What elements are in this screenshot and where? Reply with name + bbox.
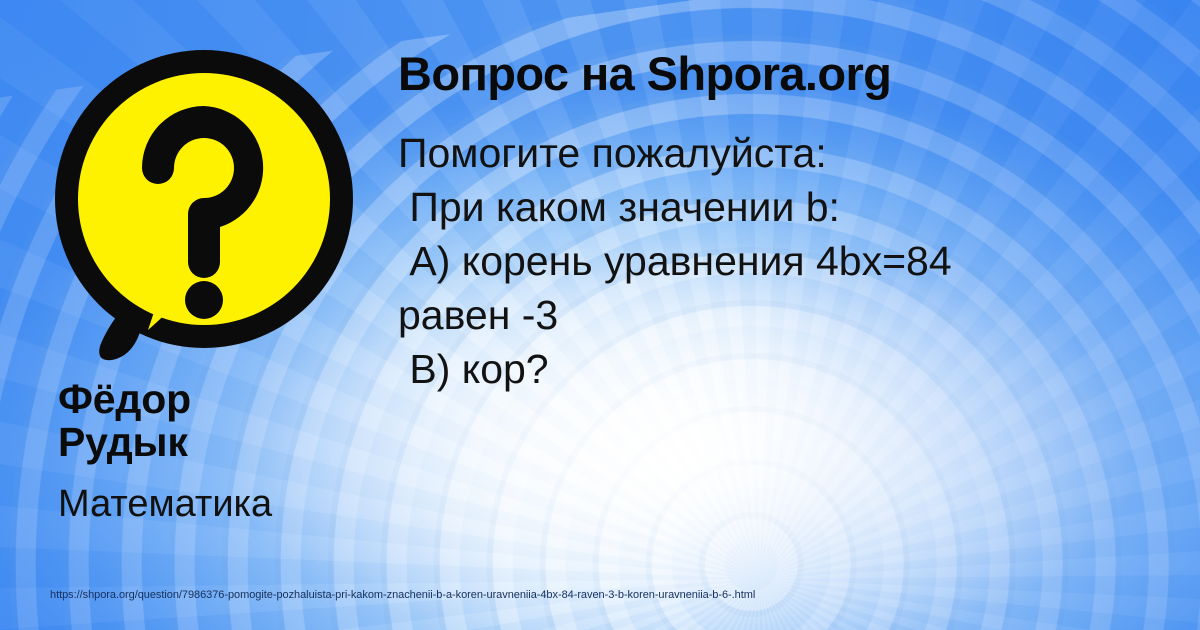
question-panel: Вопрос на Shpora.org Помогите пожалуйста…: [398, 48, 1168, 396]
question-body: Помогите пожалуйста: При каком значении …: [398, 126, 1168, 397]
author-subject: Математика: [58, 485, 388, 525]
author-block: Фёдор Рудык Математика: [58, 378, 388, 525]
share-card: Фёдор Рудык Математика Вопрос на Shpora.…: [0, 0, 1200, 630]
question-mark-dot: [185, 281, 223, 319]
author-name: Фёдор Рудык: [58, 378, 388, 465]
question-speech-bubble-icon: [44, 44, 364, 364]
page-title: Вопрос на Shpora.org: [398, 48, 1168, 100]
source-url[interactable]: https://shpora.org/question/7986376-pomo…: [50, 589, 755, 601]
card-content: Фёдор Рудык Математика Вопрос на Shpora.…: [0, 0, 1200, 630]
